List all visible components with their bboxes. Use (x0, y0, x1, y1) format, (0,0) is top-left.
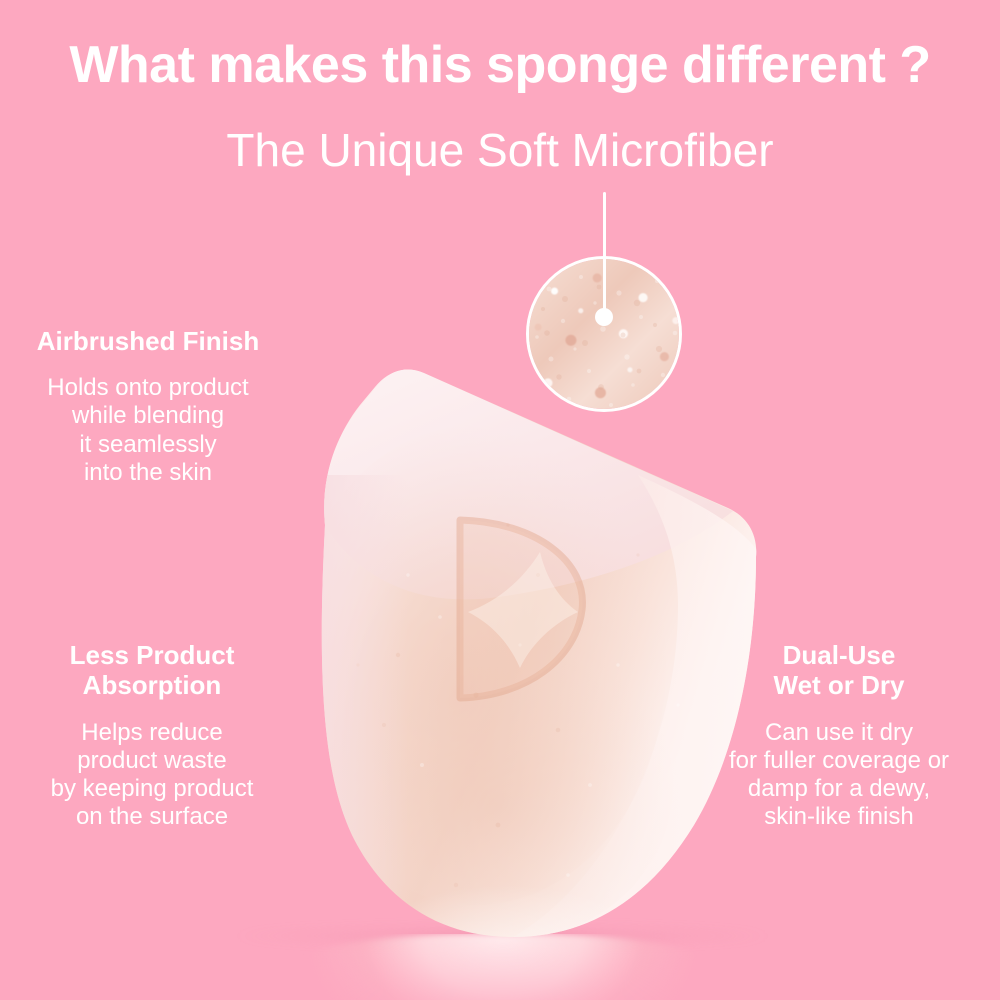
callout-leader-line (603, 192, 606, 320)
microfiber-magnifier-circle (526, 256, 682, 412)
feature-body: Helps reduce product waste by keeping pr… (8, 719, 296, 831)
feature-airbrushed-finish: Airbrushed Finish Holds onto product whi… (8, 326, 288, 487)
feature-dual-use-wet-or-dry: Dual-Use Wet or Dry Can use it dry for f… (700, 640, 978, 831)
makeup-sponge (208, 225, 768, 940)
page-subtitle: The Unique Soft Microfiber (0, 125, 1000, 176)
feature-body: Holds onto product while blending it sea… (8, 374, 288, 486)
contact-shadow (230, 925, 775, 947)
sponge-reflection (268, 934, 738, 1000)
feature-title: Dual-Use Wet or Dry (700, 640, 978, 701)
feature-less-product-absorption: Less Product Absorption Helps reduce pro… (8, 640, 296, 831)
infographic-canvas: What makes this sponge different ? The U… (0, 0, 1000, 1000)
feature-title: Airbrushed Finish (8, 326, 288, 356)
embossed-logo (446, 273, 582, 705)
callout-point-dot (595, 308, 613, 326)
page-title: What makes this sponge different ? (0, 36, 1000, 94)
feature-title: Less Product Absorption (8, 640, 296, 701)
feature-body: Can use it dry for fuller coverage or da… (700, 719, 978, 831)
